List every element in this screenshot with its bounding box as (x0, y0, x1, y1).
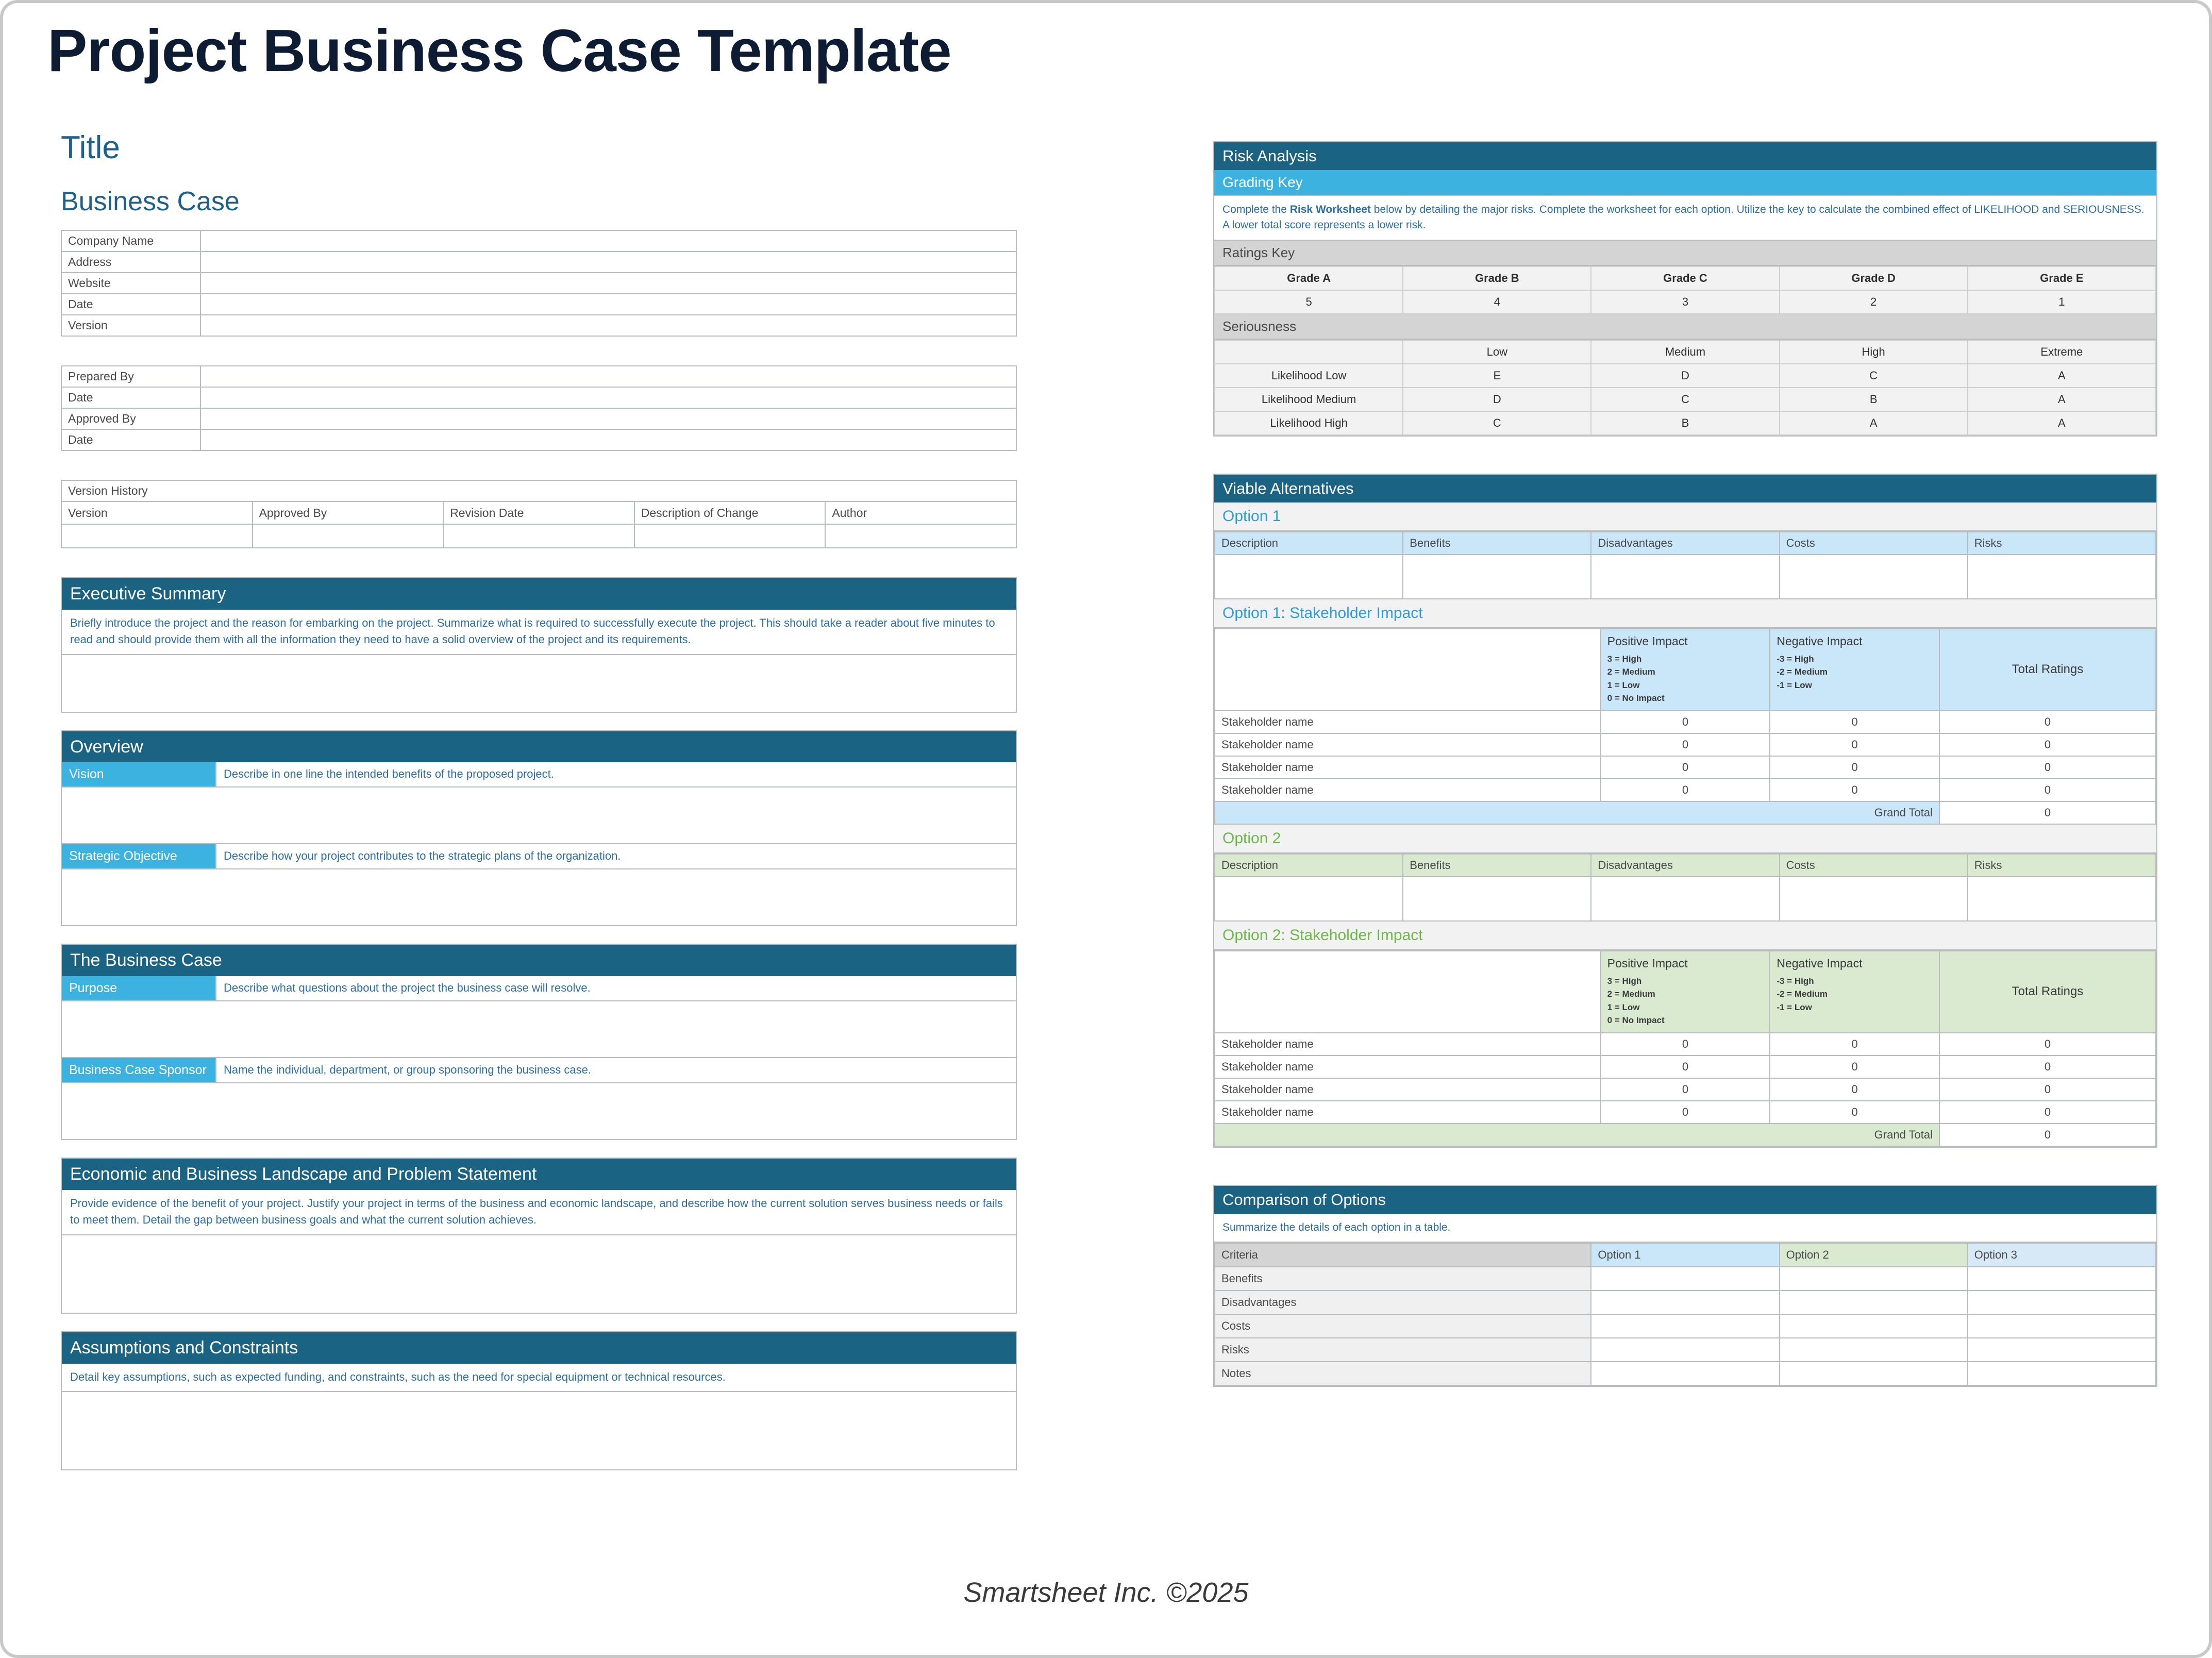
table-row[interactable]: Stakeholder name 0 0 0 (1215, 1078, 2156, 1101)
table-header-row: Description Benefits Disadvantages Costs… (1215, 532, 2156, 555)
positive-impact-line-1: 3 = High (1607, 652, 1764, 666)
company-name-label: Company Name (61, 230, 200, 252)
table-row[interactable]: Stakeholder name 0 0 0 (1215, 711, 2156, 733)
risk-analysis-section: Risk Analysis Grading Key Complete the R… (1213, 141, 2157, 437)
cell-option-3[interactable] (1968, 1291, 2156, 1314)
col-option-2: Option 2 (1780, 1243, 1968, 1267)
col-benefits: Benefits (1403, 854, 1591, 877)
title-label: Title (61, 129, 120, 166)
approval-table: Prepared By Date Approved By Date (61, 365, 1017, 451)
strategic-objective-label: Strategic Objective (62, 844, 216, 868)
table-row[interactable]: Company Name (61, 230, 1016, 252)
cell-option-3[interactable] (1968, 1338, 2156, 1362)
assumptions-heading: Assumptions and Constraints (62, 1332, 1016, 1364)
col-criteria: Criteria (1215, 1243, 1591, 1267)
purpose-input[interactable] (62, 1001, 1016, 1058)
business-case-section: The Business Case Purpose Describe what … (61, 944, 1017, 1140)
table-row[interactable]: Risks (1215, 1338, 2156, 1362)
spacer (61, 548, 1017, 577)
version-history-title: Version History (61, 480, 1016, 501)
cell-option-1[interactable] (1591, 1338, 1779, 1362)
grade-b-header: Grade B (1403, 266, 1591, 290)
stakeholder-name[interactable]: Stakeholder name (1215, 1078, 1601, 1101)
cell-option-2[interactable] (1780, 1291, 1968, 1314)
negative-impact-value[interactable]: 0 (1770, 779, 1939, 801)
comparison-table: Criteria Option 1 Option 2 Option 3 Bene… (1214, 1243, 2156, 1386)
economic-landscape-input[interactable] (62, 1235, 1016, 1313)
cell-description[interactable] (1215, 555, 1403, 599)
total-ratings-value: 0 (1939, 779, 2156, 801)
total-ratings-value: 0 (1939, 711, 2156, 733)
col-costs: Costs (1780, 854, 1968, 877)
prepared-date-field[interactable] (200, 387, 1016, 408)
approved-by-field[interactable] (200, 408, 1016, 429)
col-risks: Risks (1968, 532, 2156, 555)
seriousness-low-header: Low (1403, 340, 1591, 364)
col-version: Version (61, 501, 253, 524)
executive-summary-heading: Executive Summary (62, 578, 1016, 610)
col-option-1: Option 1 (1591, 1243, 1779, 1267)
negative-impact-line-3: -1 = Low (1777, 679, 1933, 692)
address-label: Address (61, 252, 200, 273)
spacer (61, 1140, 1017, 1158)
matrix-corner (1215, 340, 1403, 364)
business-case-sponsor-input[interactable] (62, 1083, 1016, 1139)
total-ratings-value: 0 (1939, 756, 2156, 779)
cell-option-2[interactable] (1780, 1338, 1968, 1362)
positive-impact-line-2: 2 = Medium (1607, 987, 1764, 1001)
vision-input[interactable] (62, 788, 1016, 844)
cell-option-3[interactable] (1968, 1314, 2156, 1338)
company-info-table: Company Name Address Website Date Versio… (61, 230, 1017, 337)
table-row[interactable]: Stakeholder name 0 0 0 (1215, 756, 2156, 779)
overview-heading: Overview (62, 731, 1016, 763)
total-ratings-header: Total Ratings (1939, 951, 2156, 1033)
seriousness-label: Seriousness (1214, 314, 2156, 340)
cell-disadvantages[interactable] (1591, 877, 1779, 921)
grade-c-value: 3 (1591, 290, 1779, 314)
vision-hint: Describe in one line the intended benefi… (216, 762, 1016, 786)
total-ratings-value: 0 (1939, 1033, 2156, 1056)
stakeholder-header-blank (1215, 951, 1601, 1033)
business-case-sponsor-label: Business Case Sponsor (62, 1058, 216, 1082)
negative-impact-line-1: -3 = High (1777, 975, 1933, 988)
spacer (1213, 1148, 2157, 1185)
table-row[interactable]: Stakeholder name 0 0 0 (1215, 1033, 2156, 1056)
business-case-sponsor-hint: Name the individual, department, or grou… (216, 1058, 1016, 1082)
economic-landscape-section: Economic and Business Landscape and Prob… (61, 1158, 1017, 1314)
table-row[interactable]: Address (61, 252, 1016, 273)
purpose-hint: Describe what questions about the projec… (216, 976, 1016, 1000)
stakeholder-name[interactable]: Stakeholder name (1215, 1056, 1601, 1078)
prepared-date-label: Date (61, 387, 200, 408)
vision-label: Vision (62, 762, 216, 786)
row-label-risks: Risks (1215, 1338, 1591, 1362)
positive-impact-value[interactable]: 0 (1601, 733, 1770, 756)
table-row: Version History (61, 480, 1016, 501)
matrix-cell: A (1968, 411, 2156, 435)
subtitle-label: Business Case (61, 186, 240, 217)
table-row[interactable]: Date (61, 387, 1016, 408)
matrix-cell: C (1403, 411, 1591, 435)
stakeholder-name[interactable]: Stakeholder name (1215, 711, 1601, 733)
positive-impact-value[interactable]: 0 (1601, 779, 1770, 801)
right-column: Risk Analysis Grading Key Complete the R… (1213, 141, 2157, 1387)
matrix-cell: E (1403, 364, 1591, 388)
cell-costs[interactable] (1780, 877, 1968, 921)
stakeholder-name[interactable]: Stakeholder name (1215, 779, 1601, 801)
col-description-of-change: Description of Change (634, 501, 826, 524)
option1-label: Option 1 (1214, 503, 2156, 531)
business-case-purpose-row: Purpose Describe what questions about th… (62, 976, 1016, 1001)
negative-impact-line-2: -2 = Medium (1777, 987, 1933, 1001)
cell-risks[interactable] (1968, 877, 2156, 921)
negative-impact-value[interactable]: 0 (1770, 1078, 1939, 1101)
stakeholder-name[interactable]: Stakeholder name (1215, 756, 1601, 779)
version-history-table: Version History Version Approved By Revi… (61, 480, 1017, 548)
positive-impact-line-3: 1 = Low (1607, 679, 1764, 692)
positive-impact-line-4: 0 = No Impact (1607, 692, 1764, 705)
date-field[interactable] (200, 294, 1016, 315)
cell-description-of-change[interactable] (634, 524, 826, 548)
spacer (1213, 437, 2157, 474)
cell-option-2[interactable] (1780, 1314, 1968, 1338)
grade-d-value: 2 (1780, 290, 1968, 314)
total-ratings-value: 0 (1939, 1101, 2156, 1124)
table-row: 5 4 3 2 1 (1215, 290, 2156, 314)
comparison-heading: Comparison of Options (1214, 1186, 2156, 1214)
grade-d-header: Grade D (1780, 266, 1968, 290)
negative-impact-value[interactable]: 0 (1770, 711, 1939, 733)
address-field[interactable] (200, 252, 1016, 273)
document-page: Project Business Case Template Title Bus… (0, 0, 2212, 1658)
positive-impact-value[interactable]: 0 (1601, 756, 1770, 779)
col-description: Description (1215, 854, 1403, 877)
negative-impact-line-2: -2 = Medium (1777, 665, 1933, 679)
cell-option-2[interactable] (1780, 1267, 1968, 1291)
grade-c-header: Grade C (1591, 266, 1779, 290)
executive-summary-section: Executive Summary Briefly introduce the … (61, 577, 1017, 713)
positive-impact-value[interactable]: 0 (1601, 1056, 1770, 1078)
table-header-row: Criteria Option 1 Option 2 Option 3 (1215, 1243, 2156, 1267)
ratings-key-table: Grade A Grade B Grade C Grade D Grade E … (1214, 266, 2156, 314)
cell-disadvantages[interactable] (1591, 555, 1779, 599)
negative-impact-legend: Negative Impact -3 = High -2 = Medium -1… (1770, 629, 1939, 711)
risk-analysis-note: Complete the Risk Worksheet below by det… (1214, 196, 2156, 241)
economic-landscape-heading: Economic and Business Landscape and Prob… (62, 1159, 1016, 1190)
assumptions-note: Detail key assumptions, such as expected… (62, 1364, 1016, 1393)
matrix-cell: A (1968, 364, 2156, 388)
row-label-disadvantages: Disadvantages (1215, 1291, 1591, 1314)
website-label: Website (61, 273, 200, 294)
spacer (61, 451, 1017, 480)
table-row[interactable]: Disadvantages (1215, 1291, 2156, 1314)
option2-stakeholder-table: Positive Impact 3 = High 2 = Medium 1 = … (1214, 950, 2156, 1147)
table-header-row: Low Medium High Extreme (1215, 340, 2156, 364)
table-header-row: Description Benefits Disadvantages Costs… (1215, 854, 2156, 877)
likelihood-high-label: Likelihood High (1215, 411, 1403, 435)
total-ratings-value: 0 (1939, 1056, 2156, 1078)
col-option-3: Option 3 (1968, 1243, 2156, 1267)
approved-by-label: Approved By (61, 408, 200, 429)
positive-impact-value[interactable]: 0 (1601, 711, 1770, 733)
grand-total-value: 0 (1939, 1124, 2156, 1146)
grade-a-header: Grade A (1215, 266, 1403, 290)
positive-impact-value[interactable]: 0 (1601, 1101, 1770, 1124)
comparison-of-options-section: Comparison of Options Summarize the deta… (1213, 1185, 2157, 1387)
col-disadvantages: Disadvantages (1591, 854, 1779, 877)
negative-impact-value[interactable]: 0 (1770, 733, 1939, 756)
grade-b-value: 4 (1403, 290, 1591, 314)
comparison-note: Summarize the details of each option in … (1214, 1214, 2156, 1243)
cell-option-1[interactable] (1591, 1291, 1779, 1314)
positive-impact-value[interactable]: 0 (1601, 1033, 1770, 1056)
matrix-cell: C (1780, 364, 1968, 388)
prepared-by-field[interactable] (200, 366, 1016, 387)
version-field[interactable] (200, 315, 1016, 336)
economic-landscape-note: Provide evidence of the benefit of your … (62, 1190, 1016, 1235)
cell-description[interactable] (1215, 877, 1403, 921)
option1-alternatives-table: Description Benefits Disadvantages Costs… (1214, 531, 2156, 599)
negative-impact-legend: Negative Impact -3 = High -2 = Medium -1… (1770, 951, 1939, 1033)
table-row[interactable]: Notes (1215, 1362, 2156, 1385)
positive-impact-line-2: 2 = Medium (1607, 665, 1764, 679)
cell-option-3[interactable] (1968, 1267, 2156, 1291)
matrix-cell: B (1780, 388, 1968, 411)
matrix-cell: D (1403, 388, 1591, 411)
stakeholder-name[interactable]: Stakeholder name (1215, 1101, 1601, 1124)
positive-impact-line-3: 1 = Low (1607, 1001, 1764, 1014)
option2-stakeholder-label: Option 2: Stakeholder Impact (1214, 922, 2156, 950)
seriousness-high-header: High (1780, 340, 1968, 364)
cell-option-1[interactable] (1591, 1267, 1779, 1291)
matrix-cell: A (1780, 411, 1968, 435)
positive-impact-line-1: 3 = High (1607, 975, 1764, 988)
cell-option-3[interactable] (1968, 1362, 2156, 1385)
col-description: Description (1215, 532, 1403, 555)
date-label: Date (61, 294, 200, 315)
grand-total-row: Grand Total 0 (1215, 1124, 2156, 1146)
table-row[interactable] (61, 524, 1016, 548)
cell-risks[interactable] (1968, 555, 2156, 599)
grand-total-label: Grand Total (1215, 1124, 1939, 1146)
spacer (61, 713, 1017, 730)
page-title: Project Business Case Template (47, 21, 951, 80)
option1-stakeholder-label: Option 1: Stakeholder Impact (1214, 599, 2156, 628)
assumptions-section: Assumptions and Constraints Detail key a… (61, 1331, 1017, 1471)
cell-approved-by[interactable] (253, 524, 444, 548)
table-header-row: Grade A Grade B Grade C Grade D Grade E (1215, 266, 2156, 290)
ratings-key-label: Ratings Key (1214, 241, 2156, 266)
matrix-cell: A (1968, 388, 2156, 411)
total-ratings-value: 0 (1939, 733, 2156, 756)
row-label-notes: Notes (1215, 1362, 1591, 1385)
risk-matrix-table: Low Medium High Extreme Likelihood Low E… (1214, 340, 2156, 436)
viable-alternatives-heading: Viable Alternatives (1214, 475, 2156, 503)
positive-impact-title: Positive Impact (1607, 957, 1764, 970)
approved-date-label: Date (61, 429, 200, 450)
cell-benefits[interactable] (1403, 555, 1591, 599)
row-label-costs: Costs (1215, 1314, 1591, 1338)
grading-key-heading: Grading Key (1214, 170, 2156, 196)
col-revision-date: Revision Date (443, 501, 634, 524)
strategic-objective-input[interactable] (62, 869, 1016, 925)
purpose-label: Purpose (62, 976, 216, 1000)
table-row: Likelihood Low E D C A (1215, 364, 2156, 388)
positive-impact-legend: Positive Impact 3 = High 2 = Medium 1 = … (1601, 951, 1770, 1033)
company-name-field[interactable] (200, 230, 1016, 252)
table-row[interactable]: Website (61, 273, 1016, 294)
seriousness-medium-header: Medium (1591, 340, 1779, 364)
negative-impact-value[interactable]: 0 (1770, 1101, 1939, 1124)
footer-copyright: Smartsheet Inc. ©2025 (3, 1577, 2209, 1609)
negative-impact-value[interactable]: 0 (1770, 1033, 1939, 1056)
cell-costs[interactable] (1780, 555, 1968, 599)
col-benefits: Benefits (1403, 532, 1591, 555)
table-header-row: Positive Impact 3 = High 2 = Medium 1 = … (1215, 629, 2156, 711)
total-ratings-value: 0 (1939, 1078, 2156, 1101)
overview-strategic-objective-row: Strategic Objective Describe how your pr… (62, 844, 1016, 869)
grade-e-header: Grade E (1968, 266, 2156, 290)
matrix-cell: C (1591, 388, 1779, 411)
negative-impact-title: Negative Impact (1777, 957, 1933, 970)
risk-analysis-heading: Risk Analysis (1214, 142, 2156, 170)
table-row[interactable] (1215, 555, 2156, 599)
option2-alternatives-table: Description Benefits Disadvantages Costs… (1214, 853, 2156, 922)
table-row[interactable]: Date (61, 294, 1016, 315)
version-label: Version (61, 315, 200, 336)
table-header-row: Positive Impact 3 = High 2 = Medium 1 = … (1215, 951, 2156, 1033)
grand-total-row: Grand Total 0 (1215, 801, 2156, 824)
grade-a-value: 5 (1215, 290, 1403, 314)
grand-total-value: 0 (1939, 801, 2156, 824)
stakeholder-name[interactable]: Stakeholder name (1215, 733, 1601, 756)
business-case-sponsor-row: Business Case Sponsor Name the individua… (62, 1058, 1016, 1083)
strategic-objective-hint: Describe how your project contributes to… (216, 844, 1016, 868)
table-header-row: Version Approved By Revision Date Descri… (61, 501, 1016, 524)
positive-impact-line-4: 0 = No Impact (1607, 1014, 1764, 1027)
grade-e-value: 1 (1968, 290, 2156, 314)
stakeholder-header-blank (1215, 629, 1601, 711)
executive-summary-note: Briefly introduce the project and the re… (62, 610, 1016, 655)
table-row[interactable] (1215, 877, 2156, 921)
website-field[interactable] (200, 273, 1016, 294)
table-row[interactable]: Stakeholder name 0 0 0 (1215, 779, 2156, 801)
spacer (61, 926, 1017, 944)
stakeholder-name[interactable]: Stakeholder name (1215, 1033, 1601, 1056)
col-risks: Risks (1968, 854, 2156, 877)
table-row[interactable]: Costs (1215, 1314, 2156, 1338)
negative-impact-value[interactable]: 0 (1770, 756, 1939, 779)
cell-benefits[interactable] (1403, 877, 1591, 921)
note-before: Complete the (1222, 204, 1290, 215)
executive-summary-input[interactable] (62, 655, 1016, 712)
grand-total-label: Grand Total (1215, 801, 1939, 824)
option1-stakeholder-table: Positive Impact 3 = High 2 = Medium 1 = … (1214, 628, 2156, 825)
total-ratings-header: Total Ratings (1939, 629, 2156, 711)
cell-option-2[interactable] (1780, 1362, 1968, 1385)
viable-alternatives-section: Viable Alternatives Option 1 Description… (1213, 474, 2157, 1148)
table-row[interactable]: Prepared By (61, 366, 1016, 387)
cell-version[interactable] (61, 524, 253, 548)
col-costs: Costs (1780, 532, 1968, 555)
positive-impact-value[interactable]: 0 (1601, 1078, 1770, 1101)
overview-vision-row: Vision Describe in one line the intended… (62, 762, 1016, 788)
table-row[interactable]: Date (61, 429, 1016, 450)
spacer (61, 337, 1017, 365)
col-author: Author (825, 501, 1016, 524)
table-row[interactable]: Stakeholder name 0 0 0 (1215, 1101, 2156, 1124)
cell-option-1[interactable] (1591, 1314, 1779, 1338)
negative-impact-title: Negative Impact (1777, 634, 1933, 648)
likelihood-low-label: Likelihood Low (1215, 364, 1403, 388)
prepared-by-label: Prepared By (61, 366, 200, 387)
table-row[interactable]: Stakeholder name 0 0 0 (1215, 733, 2156, 756)
business-case-heading: The Business Case (62, 945, 1016, 976)
matrix-cell: B (1591, 411, 1779, 435)
table-row[interactable]: Benefits (1215, 1267, 2156, 1291)
cell-revision-date[interactable] (443, 524, 634, 548)
negative-impact-line-1: -3 = High (1777, 652, 1933, 666)
table-row: Likelihood High C B A A (1215, 411, 2156, 435)
assumptions-input[interactable] (62, 1392, 1016, 1469)
negative-impact-value[interactable]: 0 (1770, 1056, 1939, 1078)
table-row[interactable]: Stakeholder name 0 0 0 (1215, 1056, 2156, 1078)
row-label-benefits: Benefits (1215, 1267, 1591, 1291)
matrix-cell: D (1591, 364, 1779, 388)
likelihood-medium-label: Likelihood Medium (1215, 388, 1403, 411)
table-row[interactable]: Version (61, 315, 1016, 336)
table-row[interactable]: Approved By (61, 408, 1016, 429)
col-disadvantages: Disadvantages (1591, 532, 1779, 555)
seriousness-extreme-header: Extreme (1968, 340, 2156, 364)
positive-impact-legend: Positive Impact 3 = High 2 = Medium 1 = … (1601, 629, 1770, 711)
cell-author[interactable] (825, 524, 1016, 548)
col-approved-by: Approved By (253, 501, 444, 524)
approved-date-field[interactable] (200, 429, 1016, 450)
spacer (61, 1314, 1017, 1331)
table-row: Likelihood Medium D C B A (1215, 388, 2156, 411)
negative-impact-line-3: -1 = Low (1777, 1001, 1933, 1014)
option2-label: Option 2 (1214, 825, 2156, 853)
positive-impact-title: Positive Impact (1607, 634, 1764, 648)
overview-section: Overview Vision Describe in one line the… (61, 730, 1017, 927)
cell-option-1[interactable] (1591, 1362, 1779, 1385)
left-column: Company Name Address Website Date Versio… (61, 230, 1017, 1470)
risk-worksheet-emphasis: Risk Worksheet (1290, 204, 1371, 215)
